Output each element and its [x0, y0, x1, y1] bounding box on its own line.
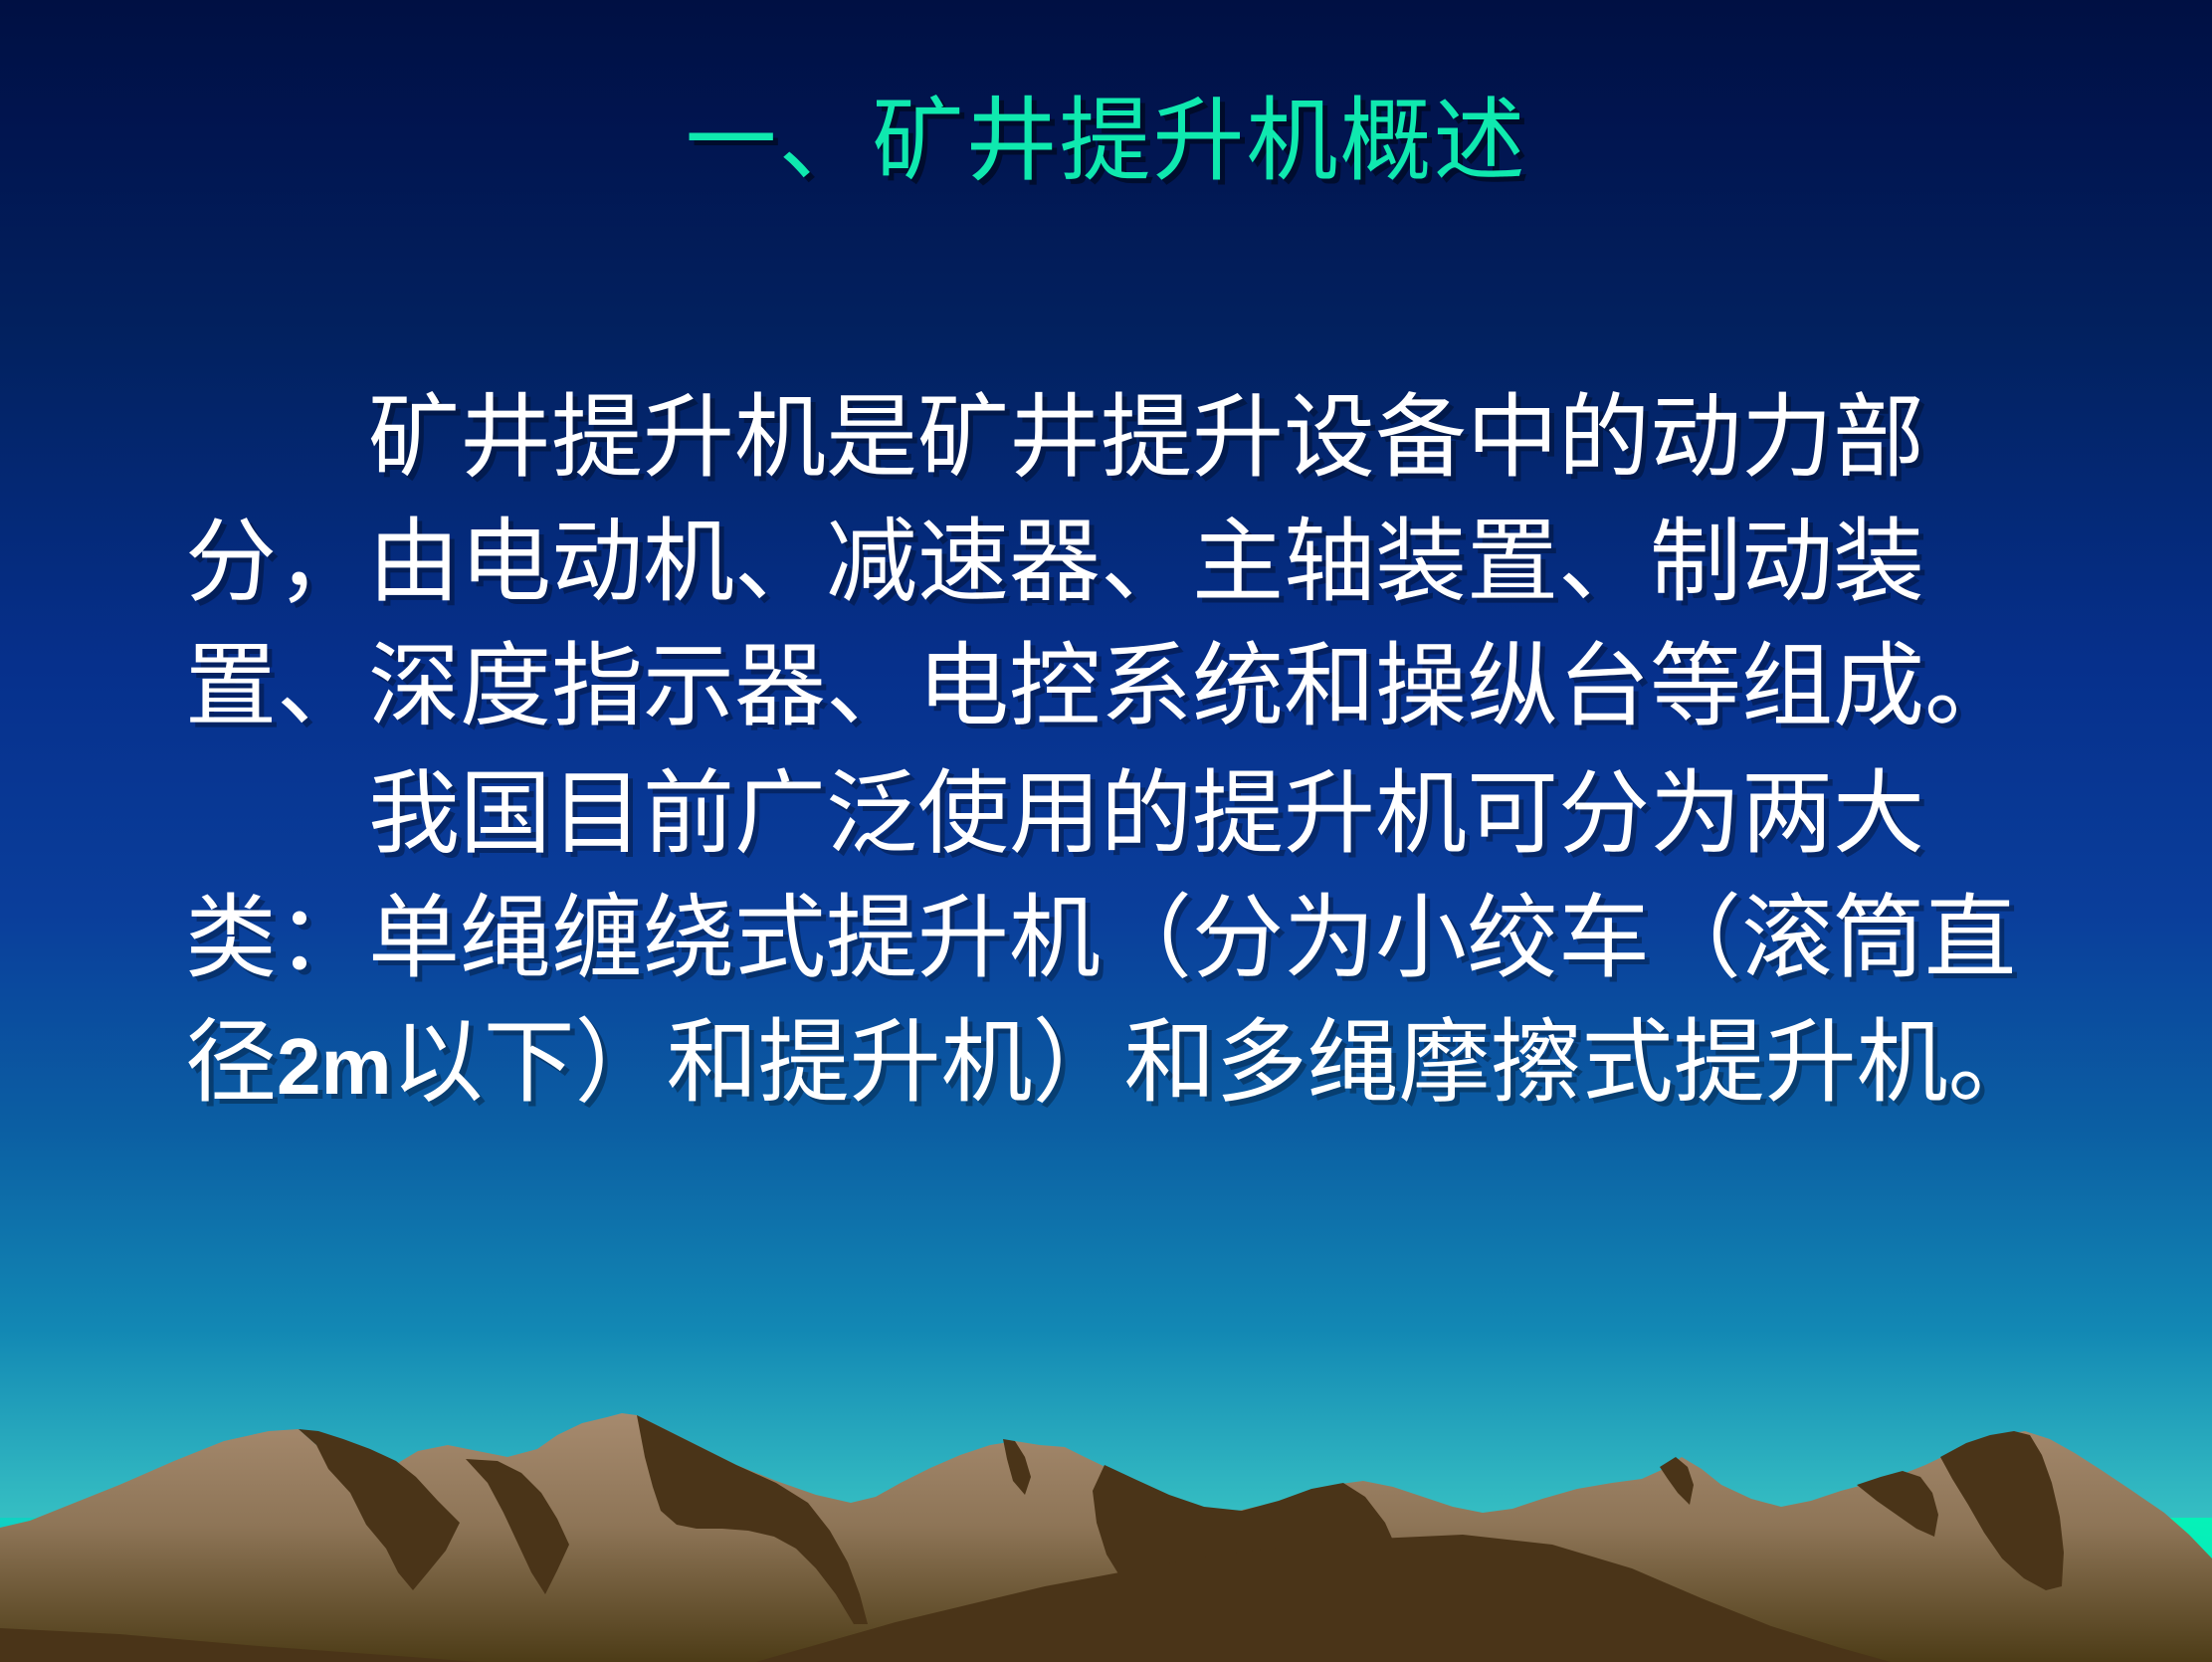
slide-title: 一、矿井提升机概述 — [0, 92, 2212, 192]
slide-canvas: 一、矿井提升机概述 矿井提升机是矿井提升设备中的动力部分，由电动机、减速器、主轴… — [0, 0, 2212, 1662]
paragraph-classification: 我国目前广泛使用的提升机可分为两大类：单绳缠绕式提升机（分为小绞车（滚筒直径2m… — [185, 752, 2076, 1129]
paragraph-classification-tail: 以下）和提升机）和多绳摩擦式提升机。 — [392, 1012, 2040, 1114]
mountain-silhouette-graphic — [0, 1373, 2212, 1662]
slide-body: 矿井提升机是矿井提升设备中的动力部分，由电动机、减速器、主轴装置、制动装置、深度… — [185, 376, 2076, 1129]
paragraph-overview: 矿井提升机是矿井提升设备中的动力部分，由电动机、减速器、主轴装置、制动装置、深度… — [185, 376, 2076, 749]
drum-diameter-value: 2m — [277, 1022, 392, 1111]
